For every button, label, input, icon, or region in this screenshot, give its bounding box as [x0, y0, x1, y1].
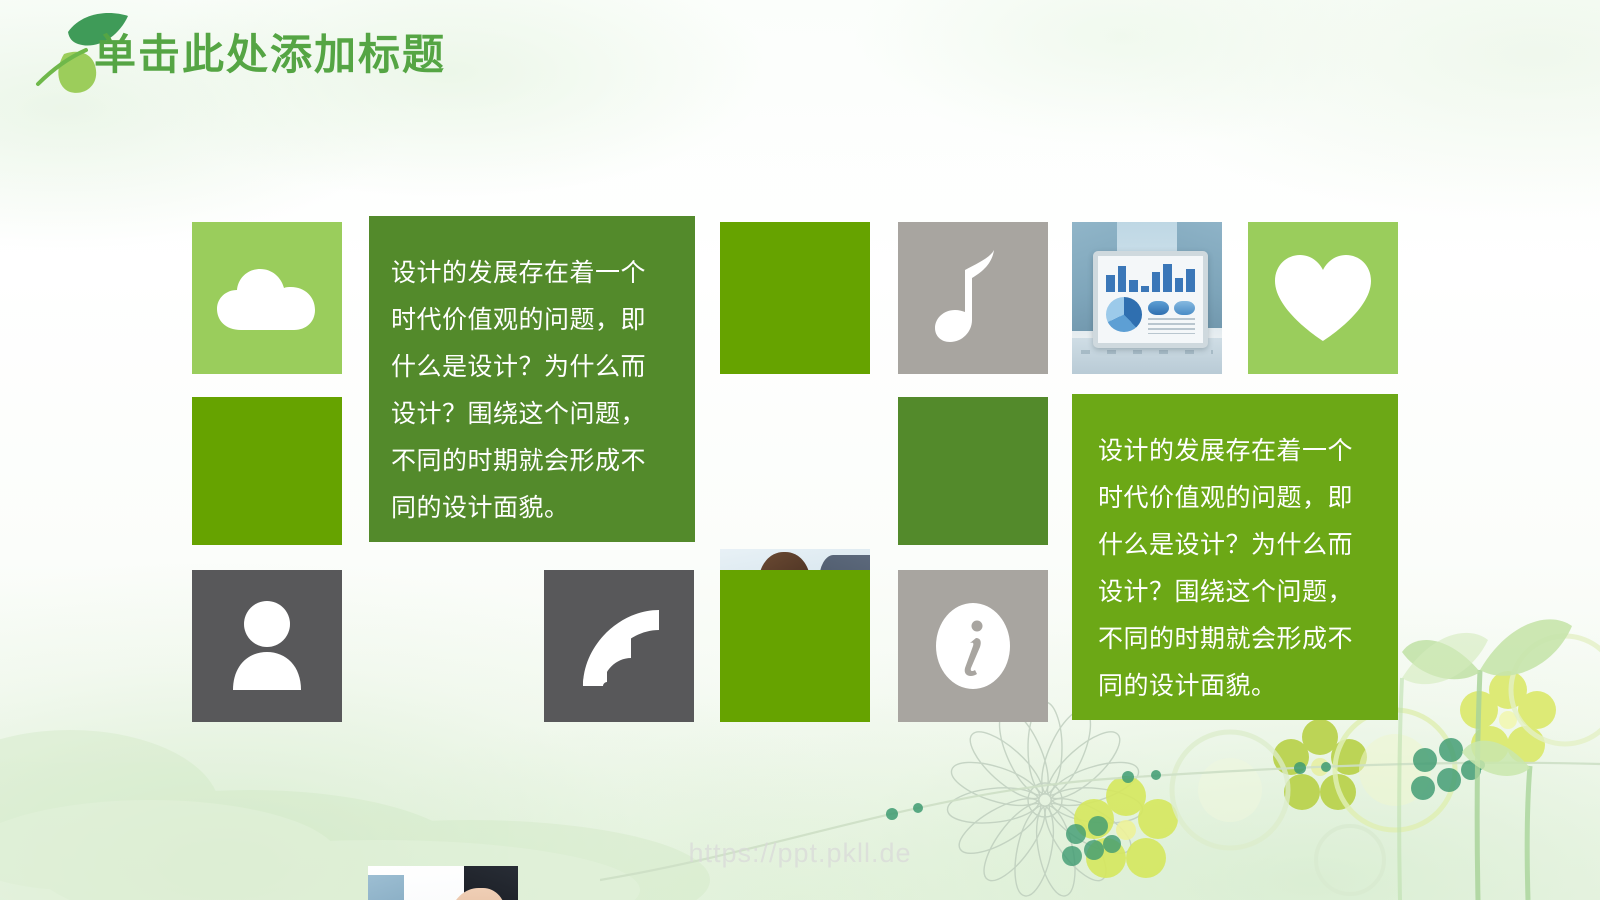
slide-canvas: 单击此处添加标题 设计的发展存在着一个时代价值观的问题，即什么是设计？为什么而设…: [0, 0, 1600, 900]
tile-music[interactable]: [898, 222, 1048, 374]
tile-green-r2c1[interactable]: [192, 397, 342, 545]
flower-cluster-icon: [1250, 705, 1430, 845]
tile-text-right-body: 设计的发展存在着一个时代价值观的问题，即什么是设计？为什么而设计？围绕这个问题，…: [1098, 428, 1370, 710]
cloud-icon: [215, 262, 319, 334]
tile-info[interactable]: [898, 570, 1048, 722]
heart-icon: [1271, 251, 1375, 345]
tile-cloud[interactable]: [192, 222, 342, 374]
tile-green-r3c3[interactable]: [720, 570, 870, 722]
user-icon: [227, 598, 307, 694]
tile-green-r2c4[interactable]: [898, 397, 1048, 545]
tile-text-left-body: 设计的发展存在着一个时代价值观的问题，即什么是设计？为什么而设计？围绕这个问题，…: [391, 250, 667, 532]
flower-cluster-icon: [1430, 660, 1600, 800]
ring-decor-icon: [1150, 720, 1350, 900]
info-icon: [930, 598, 1016, 694]
tile-text-right: 设计的发展存在着一个时代价值观的问题，即什么是设计？为什么而设计？围绕这个问题，…: [1072, 394, 1398, 720]
watermark-text: https://ppt.pkll.de: [0, 838, 1600, 869]
slide-header: 单击此处添加标题: [0, 0, 1600, 120]
hands-chart-photo: [368, 866, 518, 900]
clover-cluster-icon: [1395, 730, 1525, 840]
tile-rss[interactable]: [544, 570, 694, 722]
page-title: 单击此处添加标题: [94, 32, 446, 78]
tablet-chart-photo: [1072, 222, 1222, 374]
tile-green-r1c3[interactable]: [720, 222, 870, 374]
music-note-icon: [934, 248, 1012, 348]
tile-heart[interactable]: [1248, 222, 1398, 374]
vine-curve-decor: [600, 730, 1600, 900]
tile-text-left: 设计的发展存在着一个时代价值观的问题，即什么是设计？为什么而设计？围绕这个问题，…: [369, 216, 695, 542]
ring-decor-icon: [1505, 620, 1600, 800]
flower-cluster-icon: [1060, 760, 1260, 900]
tile-photo-tablet[interactable]: [1072, 222, 1222, 374]
tile-photo-hands[interactable]: [368, 866, 518, 900]
rss-icon: [573, 600, 665, 692]
outline-flower-icon: [930, 700, 1160, 900]
tile-user[interactable]: [192, 570, 342, 722]
